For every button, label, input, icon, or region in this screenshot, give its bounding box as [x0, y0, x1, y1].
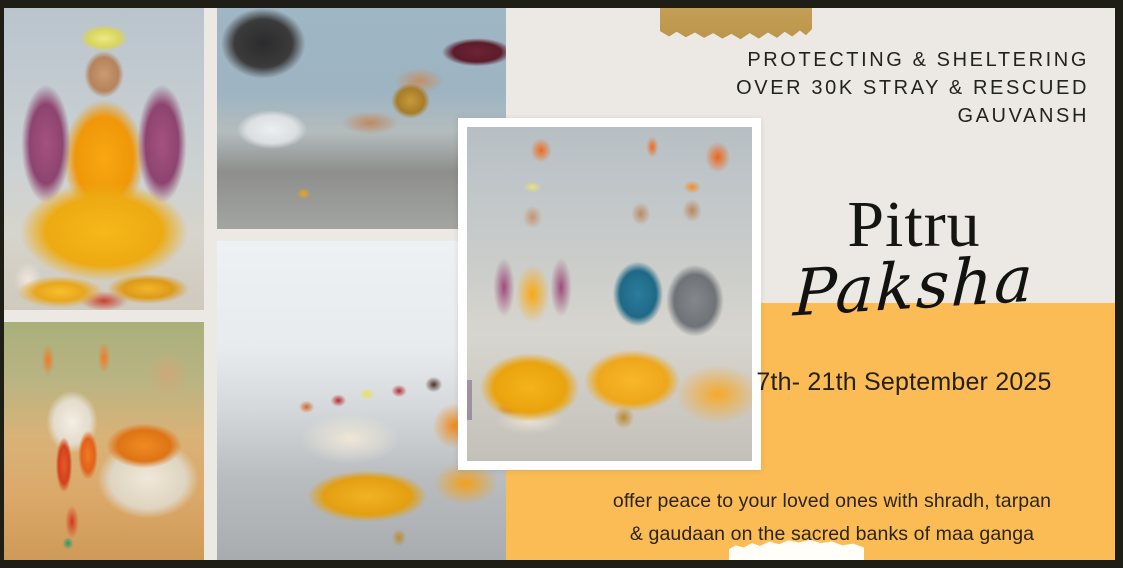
- tagline-line-1: offer peace to your loved ones with shra…: [556, 485, 1108, 518]
- photo-seated-priest-praying-image: [4, 8, 204, 310]
- photo-decorated-cow-image: [4, 322, 204, 560]
- tagline-line-2: & gaudaan on the sacred banks of maa gan…: [556, 518, 1108, 551]
- headline: PROTECTING & SHELTERING OVER 30K STRAY &…: [610, 46, 1089, 130]
- photo-collage: [4, 8, 506, 560]
- headline-line-3: GAUVANSH: [610, 102, 1089, 130]
- photo-featured-shradh-ceremony-image: [467, 127, 752, 461]
- event-dates: 7th- 21th September 2025: [704, 368, 1104, 397]
- title-block: Pitru Paksha: [749, 194, 1079, 324]
- photo-seated-priest-praying: [4, 8, 204, 310]
- poster-root: PROTECTING & SHELTERING OVER 30K STRAY &…: [0, 0, 1123, 568]
- headline-line-1: PROTECTING & SHELTERING: [610, 46, 1089, 74]
- photo-decorated-cow: [4, 322, 204, 560]
- tagline: offer peace to your loved ones with shra…: [556, 485, 1108, 551]
- photo-featured-shradh-ceremony: [458, 118, 761, 470]
- poster-canvas: PROTECTING & SHELTERING OVER 30K STRAY &…: [4, 8, 1115, 560]
- headline-line-2: OVER 30K STRAY & RESCUED: [610, 74, 1089, 102]
